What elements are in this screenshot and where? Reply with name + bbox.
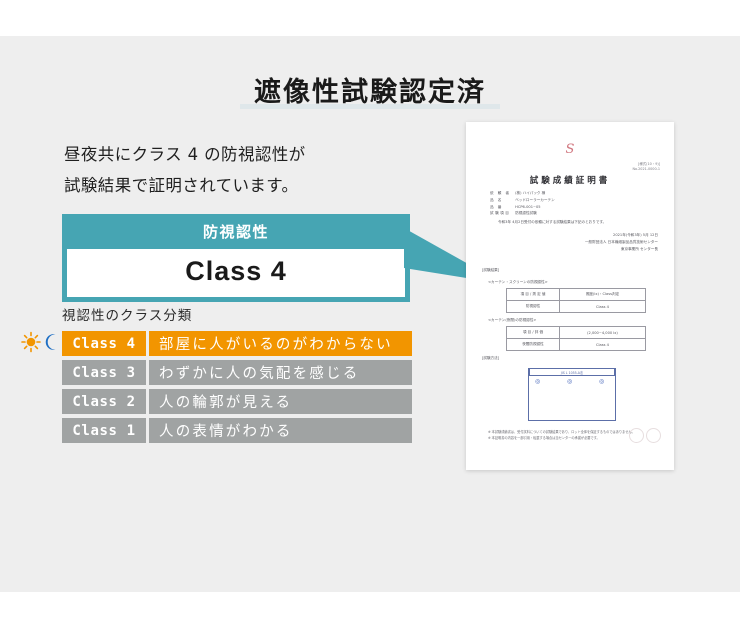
class-list-label: 視認性のクラス分類 bbox=[62, 304, 192, 324]
certificate-table1-caption: <カーテン・スクリーンの防視認性> bbox=[488, 280, 548, 285]
class-row-4: Class 4 部屋に人がいるのがわからない bbox=[62, 331, 412, 356]
class-row-1-key: Class 1 bbox=[62, 418, 146, 443]
certificate-field-key: 試験項目 bbox=[490, 210, 514, 217]
certificate-field-key: 依 頼 者 bbox=[490, 190, 514, 197]
certificate-diagram: JIS L 1055-A法 ◎ ◎ ◎ bbox=[528, 368, 616, 421]
callout-header: 防視認性 bbox=[67, 219, 405, 249]
certificate-field-value: 防視認性試験 bbox=[515, 211, 537, 215]
certificate-issuer-line-3: 東京事業所 センター長 bbox=[585, 246, 658, 253]
certificate-field-key: 品 番 bbox=[490, 204, 514, 211]
certificate-table2-row-label: 夜間防視認性 bbox=[507, 339, 560, 351]
callout-body: Class 4 bbox=[67, 249, 405, 297]
day-night-icons bbox=[21, 331, 61, 353]
callout-value: Class 4 bbox=[185, 256, 287, 286]
marketing-slide: 遮像性試験認定済 昼夜共にクラス 4 の防視認性が 試験結果で証明されています。… bbox=[0, 0, 740, 629]
certificate-field-row: 品 名 ベッドローラーカーテン bbox=[490, 197, 555, 204]
class-row-2: Class 2 人の輪郭が見える bbox=[62, 389, 412, 414]
certificate-field-row: 依 頼 者 (株) ハイパック 様 bbox=[490, 190, 555, 197]
certificate-table1-header-value: 照度(lx)・Class判定 bbox=[560, 289, 646, 301]
certificate-meta: [様式(10・9)] No.2021-0000-1 bbox=[633, 162, 661, 173]
class-row-1-desc: 人の表情がわかる bbox=[149, 418, 412, 443]
moon-icon bbox=[46, 334, 56, 350]
certificate-field-value: HCP6-001~05 bbox=[515, 205, 540, 209]
page-title: 遮像性試験認定済 bbox=[0, 70, 740, 109]
lead-line-1: 昼夜共にクラス 4 の防視認性が bbox=[64, 140, 394, 171]
certificate-stamp-icon bbox=[629, 428, 644, 443]
certificate-footnotes: ※ 本試験成績書は、受付試料についての試験結果であり、ロット全体を保証するもので… bbox=[488, 430, 635, 441]
certificate-field-key: 品 名 bbox=[490, 197, 514, 204]
certificate-method-label: [試験方法] bbox=[482, 356, 499, 361]
sun-icon bbox=[21, 331, 61, 353]
certificate-footnote-2: ※ 本証明書の内容を一部引用・転載する場合は当センターの承諾が必要です。 bbox=[488, 436, 635, 442]
certificate-field-value: ベッドローラーカーテン bbox=[515, 198, 555, 202]
certificate-footnote-1: ※ 本試験成績書は、受付試料についての試験結果であり、ロット全体を保証するもので… bbox=[488, 430, 635, 436]
table-row: 項 目 / 評 価 (2,000~4,000 lx) bbox=[507, 327, 646, 339]
certificate-results-label: [試験結果] bbox=[482, 268, 499, 273]
certificate-inner: S [様式(10・9)] No.2021-0000-1 試験成績証明書 依 頼 … bbox=[466, 122, 674, 470]
class-row-3: Class 3 わずかに人の気配を感じる bbox=[62, 360, 412, 385]
certificate-stamp-icon bbox=[646, 428, 661, 443]
diagram-symbol-icon: ◎ bbox=[567, 378, 572, 385]
certificate-field-value: (株) ハイパック 様 bbox=[515, 191, 545, 195]
certificate-issuer: 2021年(令和3年) 5月 12日 一般財団法人 日本繊維製品品質技術センター… bbox=[585, 232, 658, 252]
visibility-callout: 防視認性 Class 4 bbox=[62, 214, 410, 302]
certificate-table2-header-split: 項 目 / 評 価 bbox=[507, 327, 560, 339]
certificate-issuer-line-2: 一般財団法人 日本繊維製品品質技術センター bbox=[585, 239, 658, 246]
table-row: 項 目 / 測 定 値 照度(lx)・Class判定 bbox=[507, 289, 646, 301]
certificate-logo: S bbox=[466, 142, 674, 157]
class-row-4-key: Class 4 bbox=[62, 331, 146, 356]
certificate-table2-header-value: (2,000~4,000 lx) bbox=[560, 327, 646, 339]
certificate-field-row: 品 番 HCP6-001~05 bbox=[490, 204, 555, 211]
class-row-1: Class 1 人の表情がわかる bbox=[62, 418, 412, 443]
certificate-table1-header-split: 項 目 / 測 定 値 bbox=[507, 289, 560, 301]
lead-line-2: 試験結果で証明されています。 bbox=[64, 171, 394, 202]
certificate-table2-row-value: Class 4 bbox=[560, 339, 646, 351]
certificate-meta-line-2: No.2021-0000-1 bbox=[633, 167, 661, 172]
class-row-4-desc: 部屋に人がいるのがわからない bbox=[149, 331, 412, 356]
class-row-2-desc: 人の輪郭が見える bbox=[149, 389, 412, 414]
certificate-issuer-line-1: 2021年(令和3年) 5月 12日 bbox=[585, 232, 658, 239]
class-list: Class 4 部屋に人がいるのがわからない Class 3 わずかに人の気配を… bbox=[62, 331, 412, 447]
certificate-diagram-label: JIS L 1055-A法 bbox=[529, 368, 615, 376]
certificate-table2-caption: <カーテン(夜間)の防視認性> bbox=[488, 318, 536, 323]
certificate-fields: 依 頼 者 (株) ハイパック 様 品 名 ベッドローラーカーテン 品 番 HC… bbox=[490, 190, 555, 217]
diagram-symbol-icon: ◎ bbox=[599, 378, 604, 385]
certificate-table1-row-label: 防視認性 bbox=[507, 301, 560, 313]
class-row-2-key: Class 2 bbox=[62, 389, 146, 414]
certificate-table1-row-value: Class 4 bbox=[560, 301, 646, 313]
class-row-3-key: Class 3 bbox=[62, 360, 146, 385]
certificate-field-row: 試験項目 防視認性試験 bbox=[490, 210, 555, 217]
certificate-table-1: 項 目 / 測 定 値 照度(lx)・Class判定 防視認性 Class 4 bbox=[506, 288, 646, 313]
certificate-title: 試験成績証明書 bbox=[466, 174, 674, 186]
table-row: 防視認性 Class 4 bbox=[507, 301, 646, 313]
lead-copy: 昼夜共にクラス 4 の防視認性が 試験結果で証明されています。 bbox=[64, 140, 394, 201]
class-row-3-desc: わずかに人の気配を感じる bbox=[149, 360, 412, 385]
certificate-statement: 令和3年 4月2日受付の依頼に対する試験結果は下記のとおりです。 bbox=[498, 220, 606, 225]
certificate-document: S [様式(10・9)] No.2021-0000-1 試験成績証明書 依 頼 … bbox=[466, 122, 674, 470]
certificate-table-2: 項 目 / 評 価 (2,000~4,000 lx) 夜間防視認性 Class … bbox=[506, 326, 646, 351]
diagram-symbol-icon: ◎ bbox=[535, 378, 540, 385]
table-row: 夜間防視認性 Class 4 bbox=[507, 339, 646, 351]
